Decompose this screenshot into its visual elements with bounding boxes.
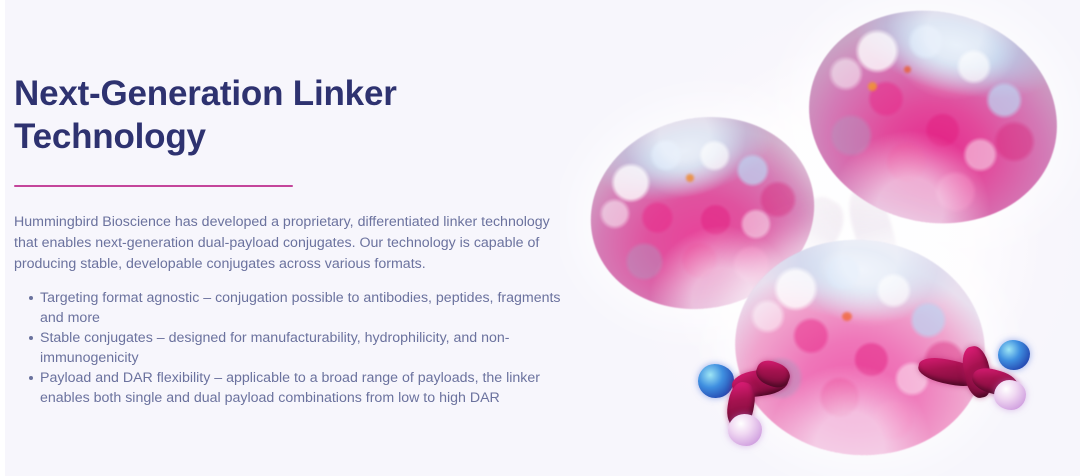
- list-item-label: Targeting format agnostic – conjugation …: [40, 290, 561, 326]
- payload-cap-lavender-icon: [728, 414, 762, 446]
- linker-technology-section: Next-Generation Linker Technology Hummin…: [0, 0, 1080, 476]
- page-title: Next-Generation Linker Technology: [14, 72, 484, 158]
- payload-conjugate-right: [912, 336, 1034, 428]
- bullet-dot-icon: [29, 336, 33, 340]
- payload-cap-blue-icon: [998, 340, 1030, 370]
- accent-residue: [868, 82, 877, 91]
- accent-residue: [904, 66, 911, 73]
- payload-conjugate-left: [698, 352, 814, 448]
- list-item: Targeting format agnostic – conjugation …: [14, 288, 570, 328]
- text-column: Next-Generation Linker Technology Hummin…: [14, 0, 584, 476]
- payload-cap-blue-icon: [698, 364, 734, 398]
- bullet-dot-icon: [29, 296, 33, 300]
- intro-paragraph: Hummingbird Bioscience has developed a p…: [14, 212, 570, 275]
- bullet-dot-icon: [29, 376, 33, 380]
- figure-column: [560, 0, 1080, 476]
- list-item: Payload and DAR flexibility – applicable…: [14, 368, 570, 408]
- accent-residue: [686, 174, 694, 182]
- feature-list: Targeting format agnostic – conjugation …: [14, 288, 570, 408]
- list-item: Stable conjugates – designed for manufac…: [14, 328, 570, 368]
- list-item-label: Stable conjugates – designed for manufac…: [40, 330, 510, 366]
- payload-cap-lavender-icon: [994, 380, 1026, 410]
- antibody-drug-conjugate-image: [560, 0, 1080, 476]
- list-item-label: Payload and DAR flexibility – applicable…: [40, 370, 540, 406]
- accent-residue: [842, 312, 852, 321]
- page-left-gutter: [0, 0, 5, 476]
- title-divider-rule: [14, 185, 293, 187]
